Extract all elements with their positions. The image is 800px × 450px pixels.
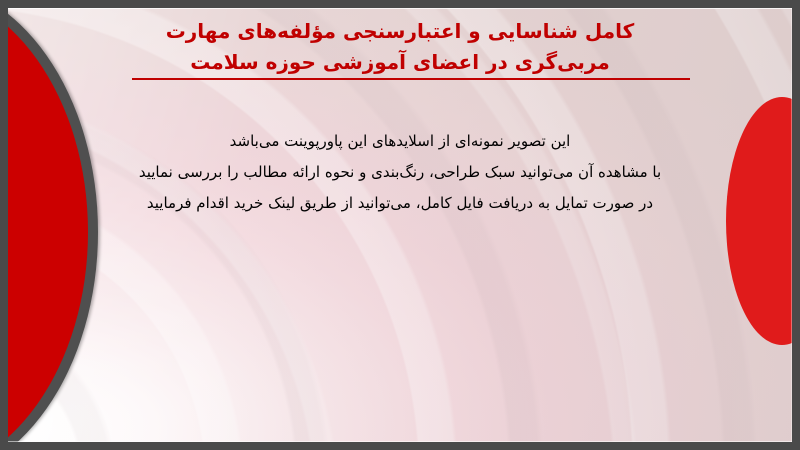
presentation-slide: کامل شناسایی و اعتبارسنجی مؤلفه‌های مهار… bbox=[0, 0, 800, 450]
title-underline-rule bbox=[132, 78, 690, 80]
slide-body-line-1: این تصویر نمونه‌ای از اسلایدهای این پاور… bbox=[8, 126, 792, 157]
slide-title-line-2: مربی‌گری در اعضای آموزشی حوزه سلامت bbox=[8, 47, 792, 78]
slide-body-text: این تصویر نمونه‌ای از اسلایدهای این پاور… bbox=[8, 126, 792, 219]
slide-body-line-2: با مشاهده آن می‌توانید سبک طراحی، رنگ‌بن… bbox=[8, 157, 792, 188]
slide-title: کامل شناسایی و اعتبارسنجی مؤلفه‌های مهار… bbox=[8, 16, 792, 78]
slide-content-plate: کامل شناسایی و اعتبارسنجی مؤلفه‌های مهار… bbox=[8, 8, 792, 442]
slide-title-line-1: کامل شناسایی و اعتبارسنجی مؤلفه‌های مهار… bbox=[8, 16, 792, 47]
slide-body-line-3: در صورت تمایل به دریافت فایل کامل، می‌تو… bbox=[8, 188, 792, 219]
